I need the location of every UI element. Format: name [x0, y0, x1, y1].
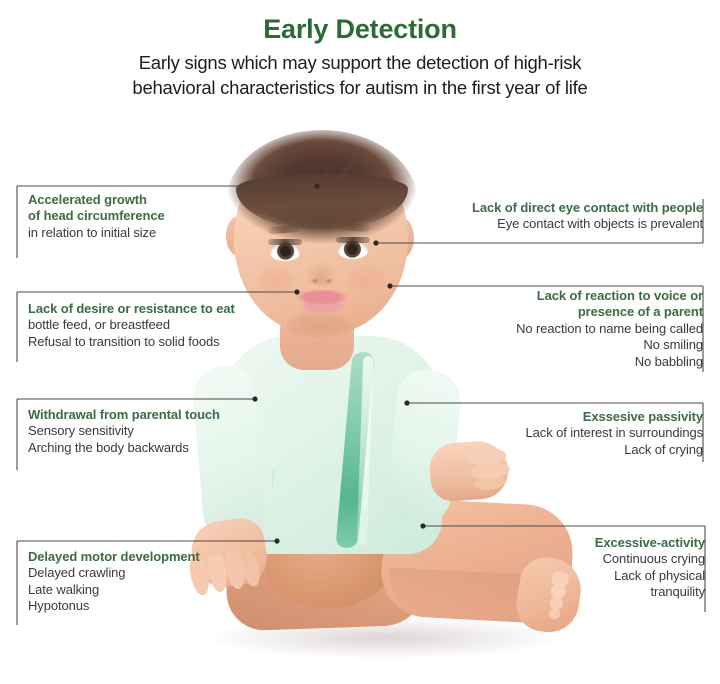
callout-heading: Lack of reaction to voice or: [443, 288, 703, 304]
callout-detail: tranquility: [485, 584, 705, 600]
callout-lack-eye-contact: Lack of direct eye contact with people E…: [433, 200, 714, 233]
callout-detail: in relation to initial size: [28, 225, 278, 241]
callout-excessive-passivity: Exssesive passivity Lack of interest in …: [463, 409, 714, 458]
callout-detail: Refusal to transition to solid foods: [28, 334, 290, 350]
callout-detail: Hypotonus: [28, 598, 280, 614]
callout-detail: Delayed crawling: [28, 565, 280, 581]
baby-chin-shading: [286, 312, 350, 338]
callout-detail: bottle feed, or breastfeed: [28, 317, 290, 333]
callout-heading-line2: of head circumference: [28, 208, 278, 224]
callout-lack-of-desire-to-eat: Lack of desire or resistance to eat bott…: [17, 301, 290, 350]
callout-heading: Accelerated growth: [28, 192, 278, 208]
baby-right-cheek: [346, 264, 386, 294]
callout-heading: Lack of direct eye contact with people: [433, 200, 703, 216]
callout-heading: Exssesive passivity: [463, 409, 703, 425]
page-title: Early Detection: [0, 14, 720, 45]
callout-detail: Eye contact with objects is prevalent: [433, 216, 703, 232]
callout-accelerated-head-growth: Accelerated growth of head circumference…: [17, 192, 278, 241]
callout-detail: No babbling: [443, 354, 703, 370]
callout-detail: Lack of interest in surroundings: [463, 425, 703, 441]
subtitle-line-1: Early signs which may support the detect…: [40, 51, 680, 76]
callout-detail: Continuous crying: [485, 551, 705, 567]
callout-withdrawal-parental-touch: Withdrawal from parental touch Sensory s…: [17, 407, 282, 456]
baby-left-cheek: [256, 266, 296, 296]
callout-excessive-activity: Excessive-activity Continuous crying Lac…: [485, 535, 716, 601]
callout-detail: Sensory sensitivity: [28, 423, 282, 439]
callout-detail: Arching the body backwards: [28, 440, 282, 456]
callout-heading: Delayed motor development: [28, 549, 280, 565]
callout-lack-reaction-to-voice: Lack of reaction to voice or presence of…: [443, 288, 714, 370]
callout-heading: Lack of desire or resistance to eat: [28, 301, 290, 317]
callout-heading: Excessive-activity: [485, 535, 705, 551]
header: Early Detection Early signs which may su…: [0, 0, 720, 100]
callout-heading-line2: presence of a parent: [443, 304, 703, 320]
early-detection-infographic: Early Detection Early signs which may su…: [0, 0, 720, 684]
page-subtitle: Early signs which may support the detect…: [40, 51, 680, 100]
baby-hair-strands: [318, 150, 414, 224]
callout-delayed-motor-development: Delayed motor development Delayed crawli…: [17, 549, 280, 615]
callout-detail: No smiling: [443, 337, 703, 353]
callout-detail: Late walking: [28, 582, 280, 598]
callout-detail: No reaction to name being called: [443, 321, 703, 337]
baby-right-eyelash: [336, 237, 370, 243]
callout-detail: Lack of crying: [463, 442, 703, 458]
baby-nostrils: [311, 278, 333, 284]
baby-lips: [296, 290, 348, 312]
callout-heading: Withdrawal from parental touch: [28, 407, 282, 423]
subtitle-line-2: behavioral characteristics for autism in…: [40, 76, 680, 101]
callout-detail: Lack of physical: [485, 568, 705, 584]
